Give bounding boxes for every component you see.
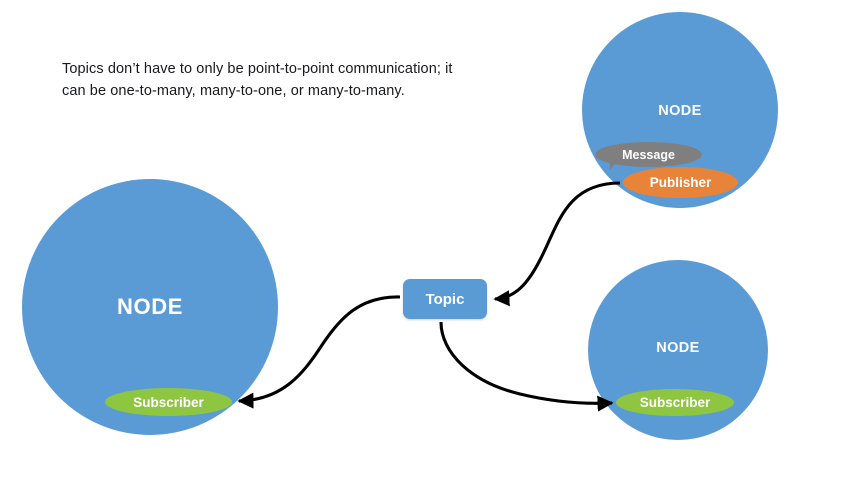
slide-canvas: Topics don’t have to only be point-to-po… (0, 0, 854, 480)
topic-label: Topic (426, 291, 465, 308)
message-callout-tail-icon (609, 159, 621, 171)
subscriber-pill-bottom-right[interactable]: Subscriber (616, 389, 734, 416)
subscriber-label-bottom-right: Subscriber (640, 395, 711, 410)
connector-topic-to-bottom-right-subscriber (441, 322, 612, 403)
subscriber-label-left: Subscriber (133, 395, 204, 410)
publisher-label: Publisher (650, 175, 712, 190)
message-label: Message (622, 148, 675, 162)
topic-box[interactable]: Topic (403, 279, 487, 319)
connector-publisher-to-topic (495, 183, 620, 299)
node-label-left: NODE (22, 294, 278, 320)
node-label-bottom-right: NODE (588, 340, 768, 356)
subscriber-pill-left[interactable]: Subscriber (105, 388, 232, 416)
caption-text: Topics don’t have to only be point-to-po… (62, 58, 482, 103)
publisher-pill-top-right[interactable]: Publisher (623, 167, 738, 198)
node-label-top-right: NODE (582, 103, 778, 119)
